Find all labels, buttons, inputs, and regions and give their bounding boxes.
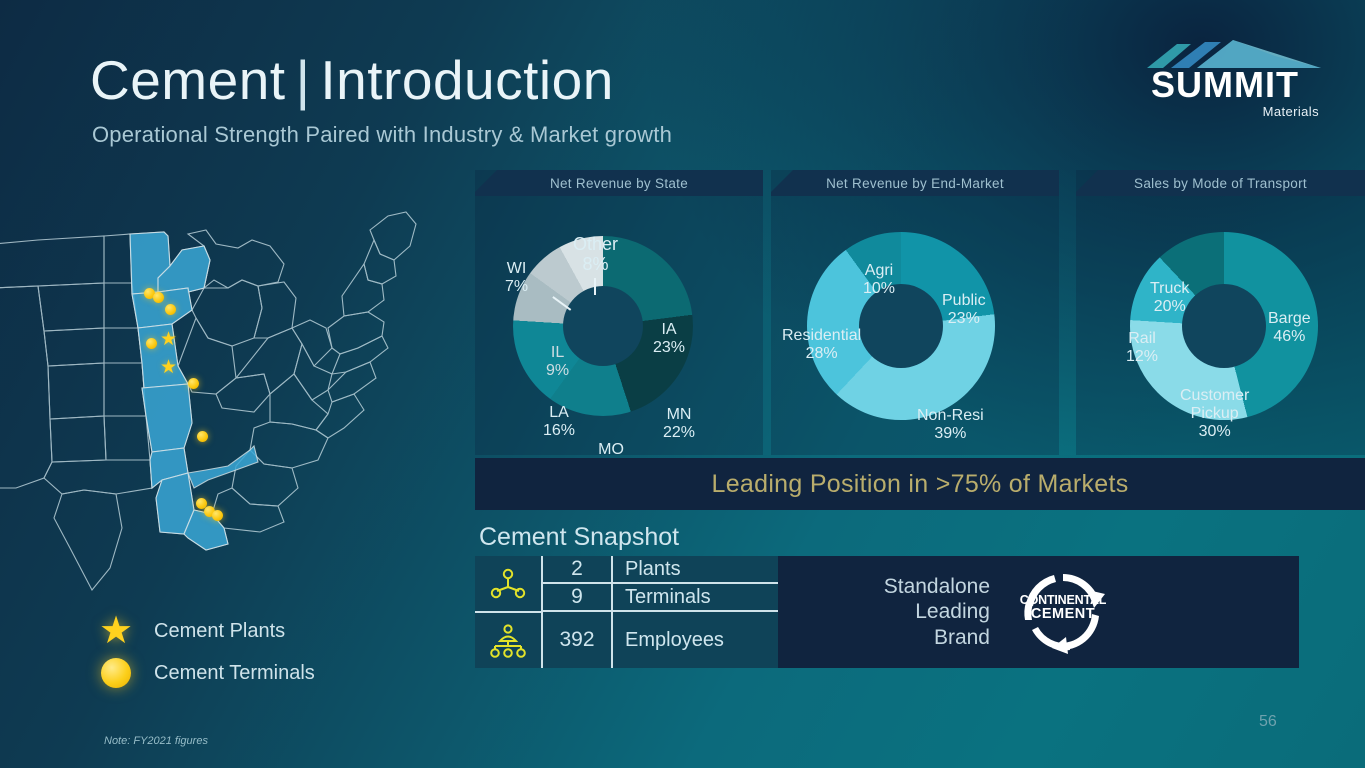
map-terminal-dot-icon bbox=[165, 304, 176, 315]
snapshot-label-employees: Employees bbox=[613, 629, 724, 652]
leading-position-banner: Leading Position in >75% of Markets bbox=[475, 458, 1365, 510]
donut-hole bbox=[1182, 284, 1266, 368]
donut-chart-transport: Barge46% CustomerPickup30% Rail12% Truck… bbox=[1130, 232, 1318, 420]
panel-header: Sales by Mode of Transport bbox=[1076, 170, 1365, 196]
snapshot-table: 2 Plants 9 Terminals 392 Employees bbox=[475, 556, 778, 668]
panel-header: Net Revenue by End-Market bbox=[771, 170, 1059, 196]
legend-item-plants: ★ Cement Plants bbox=[92, 610, 315, 652]
segment-label-rail: Rail12% bbox=[1126, 330, 1158, 366]
panel-title: Net Revenue by State bbox=[550, 176, 688, 191]
title-second: Introduction bbox=[320, 49, 613, 111]
segment-label-mn: MN22% bbox=[663, 406, 695, 442]
panel-net-revenue-by-end-market: Net Revenue by End-Market Public23% Non-… bbox=[771, 170, 1059, 455]
banner-text: Leading Position in >75% of Markets bbox=[712, 470, 1129, 499]
network-icon-cell bbox=[475, 556, 541, 613]
map-plant-star-icon: ★ bbox=[160, 358, 177, 377]
segment-label-customer-pickup: CustomerPickup30% bbox=[1180, 387, 1249, 441]
title-separator: | bbox=[286, 49, 321, 111]
snapshot-value-plants: 2 bbox=[543, 556, 613, 582]
donut-chart-state: IA23% MN22% MO15% LA16% IL9% W bbox=[513, 236, 693, 416]
snapshot-label-plants: Plants bbox=[613, 558, 681, 581]
summit-logo: SUMMIT Materials bbox=[1125, 38, 1325, 120]
slide-root: Cement|Introduction Operational Strength… bbox=[0, 0, 1365, 768]
panel-title: Net Revenue by End-Market bbox=[826, 176, 1004, 191]
snapshot-label-terminals: Terminals bbox=[613, 586, 711, 609]
segment-label-agri: Agri10% bbox=[863, 262, 895, 298]
segment-label-ia: IA23% bbox=[653, 321, 685, 357]
brand-box: Standalone Leading Brand bbox=[778, 556, 1299, 668]
snapshot-icon-column bbox=[475, 556, 543, 668]
panel-body: IA23% MN22% MO15% LA16% IL9% W bbox=[475, 196, 763, 455]
snapshot-value-terminals: 9 bbox=[543, 584, 613, 610]
circle-icon bbox=[92, 658, 140, 688]
snapshot-value-employees: 392 bbox=[543, 612, 613, 668]
segment-label-non-resi: Non-Resi39% bbox=[917, 407, 984, 443]
us-map: ★ ★ bbox=[0, 188, 442, 598]
donut-hole bbox=[563, 286, 643, 366]
star-icon: ★ bbox=[92, 612, 140, 650]
donut-chart-end-market: Public23% Non-Resi39% Residential28% Agr… bbox=[807, 232, 995, 420]
brand-text: Standalone Leading Brand bbox=[778, 574, 1008, 651]
page-subtitle: Operational Strength Paired with Industr… bbox=[92, 122, 672, 148]
snapshot-rows: 2 Plants 9 Terminals 392 Employees bbox=[543, 556, 778, 668]
org-chart-icon bbox=[488, 623, 528, 659]
continental-cement-logo: CONTINENTAL CEMENT bbox=[1008, 564, 1118, 660]
legend-item-terminals: Cement Terminals bbox=[92, 652, 315, 694]
title-main: Cement bbox=[90, 49, 286, 111]
segment-label-la: LA16% bbox=[543, 404, 575, 440]
segment-label-wi: WI7% bbox=[505, 260, 528, 296]
cement-snapshot: 2 Plants 9 Terminals 392 Employees Stand… bbox=[475, 556, 1299, 668]
summit-wordmark: SUMMIT bbox=[1125, 64, 1325, 106]
segment-label-barge: Barge46% bbox=[1268, 310, 1311, 346]
map-terminal-dot-icon bbox=[146, 338, 157, 349]
segment-label-public: Public23% bbox=[942, 292, 986, 328]
snapshot-row-plants: 2 Plants bbox=[543, 556, 778, 584]
leader-line-other bbox=[594, 278, 596, 295]
map-terminal-dot-icon bbox=[197, 431, 208, 442]
segment-label-other: Other8% bbox=[573, 234, 618, 274]
legend-label-terminals: Cement Terminals bbox=[154, 662, 315, 685]
segment-label-residential: Residential28% bbox=[782, 327, 861, 363]
page-title: Cement|Introduction bbox=[90, 48, 614, 112]
cc-line-2: CEMENT bbox=[1008, 607, 1118, 622]
panel-title: Sales by Mode of Transport bbox=[1134, 176, 1307, 191]
snapshot-row-employees: 392 Employees bbox=[543, 612, 778, 668]
map-plant-star-icon: ★ bbox=[160, 330, 177, 349]
map-terminal-dot-icon bbox=[212, 510, 223, 521]
legend-label-plants: Cement Plants bbox=[154, 620, 285, 643]
brand-line-3: Brand bbox=[778, 625, 990, 651]
panel-body: Public23% Non-Resi39% Residential28% Agr… bbox=[771, 196, 1059, 455]
us-map-svg bbox=[0, 188, 442, 598]
network-nodes-icon bbox=[489, 567, 527, 601]
panel-net-revenue-by-state: Net Revenue by State IA23% MN22% MO15% bbox=[475, 170, 763, 455]
segment-label-il: IL9% bbox=[546, 344, 569, 380]
panel-sales-by-mode-of-transport: Sales by Mode of Transport Barge46% Cust… bbox=[1076, 170, 1365, 455]
footnote: Note: FY2021 figures bbox=[104, 735, 208, 747]
brand-line-1: Standalone bbox=[778, 574, 990, 600]
panel-body: Barge46% CustomerPickup30% Rail12% Truck… bbox=[1076, 196, 1365, 455]
chart-panels: Net Revenue by State IA23% MN22% MO15% bbox=[475, 170, 1365, 455]
snapshot-title: Cement Snapshot bbox=[479, 523, 679, 552]
map-terminal-dot-icon bbox=[153, 292, 164, 303]
panel-header: Net Revenue by State bbox=[475, 170, 763, 196]
map-legend: ★ Cement Plants Cement Terminals bbox=[92, 610, 315, 694]
map-terminal-dot-icon bbox=[188, 378, 199, 389]
brand-line-2: Leading bbox=[778, 599, 990, 625]
summit-tagline: Materials bbox=[1125, 104, 1325, 119]
continental-cement-wordmark: CONTINENTAL CEMENT bbox=[1008, 594, 1118, 622]
segment-label-truck: Truck20% bbox=[1150, 280, 1189, 316]
org-chart-icon-cell bbox=[475, 613, 541, 668]
page-number: 56 bbox=[1259, 713, 1277, 731]
snapshot-row-terminals: 9 Terminals bbox=[543, 584, 778, 612]
